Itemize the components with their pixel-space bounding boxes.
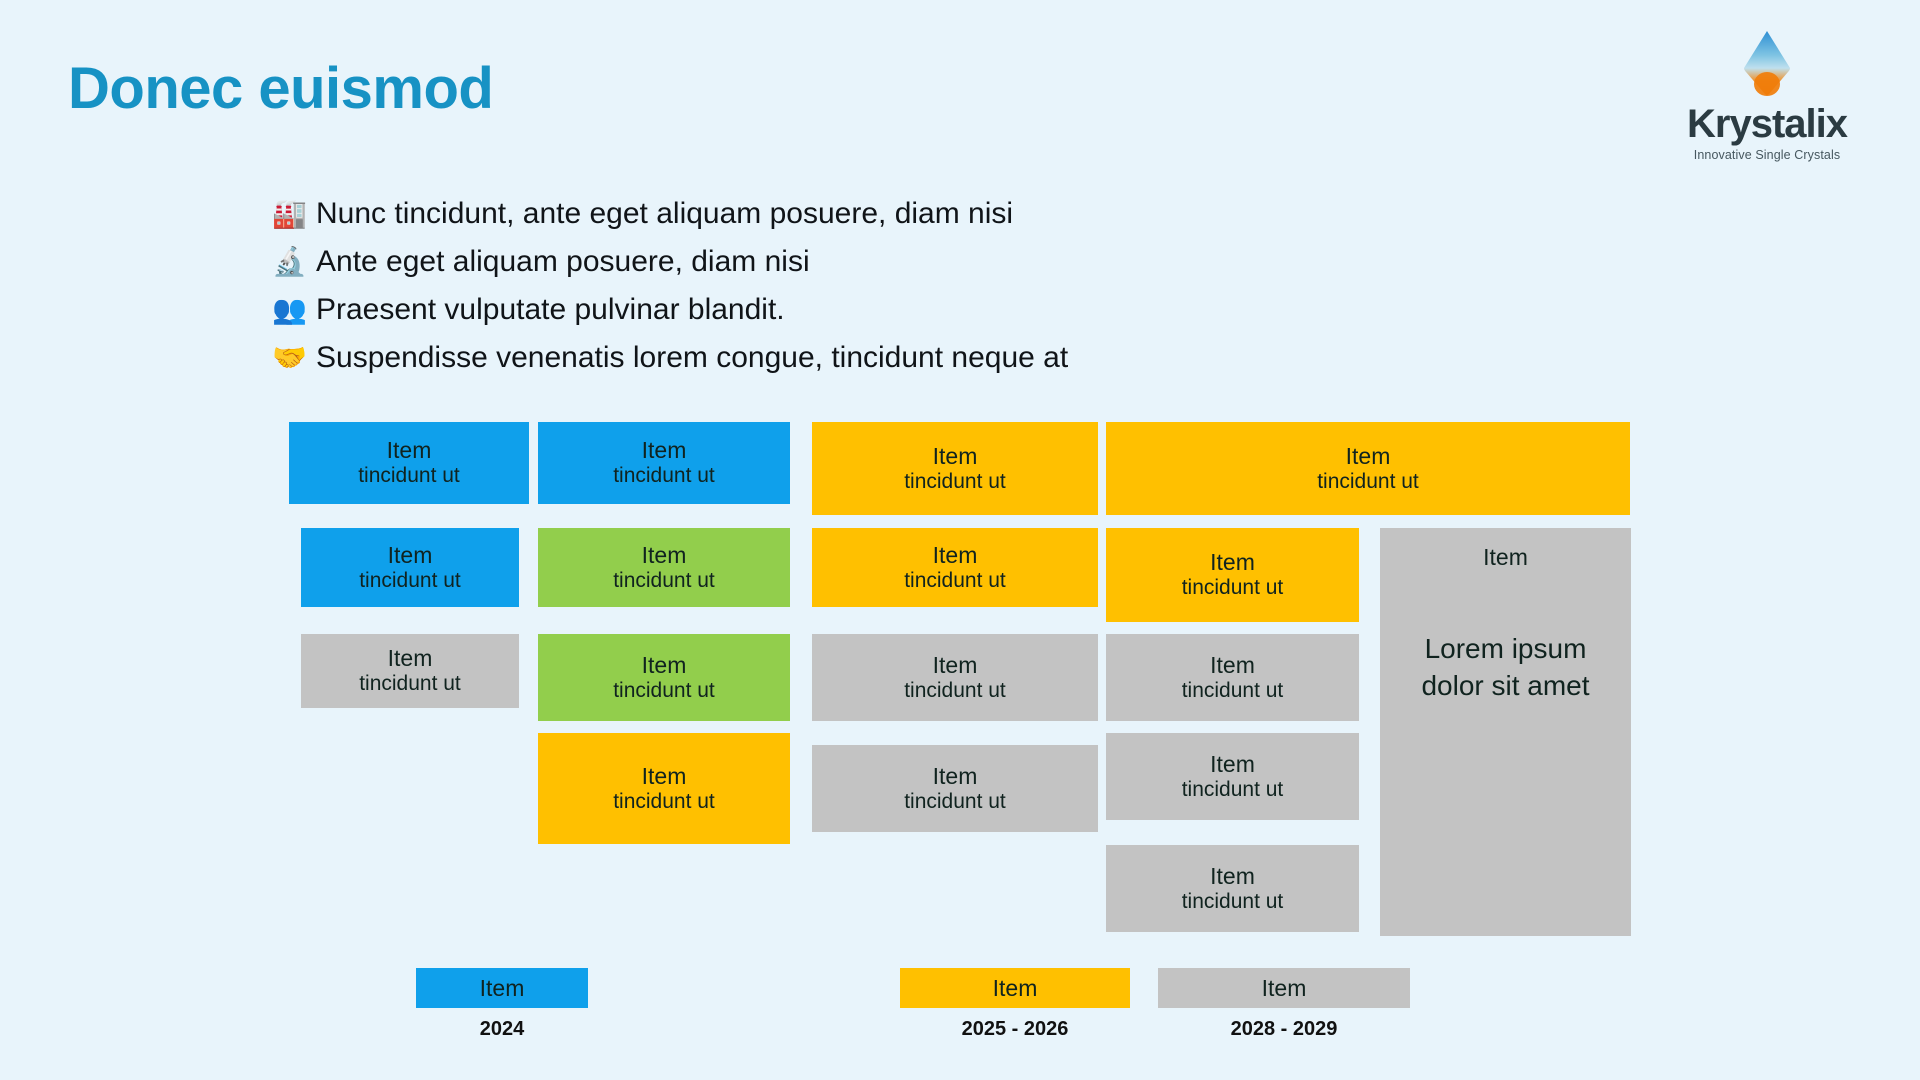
matrix-cell-r1c3[interactable]: Itemtincidunt ut (812, 422, 1098, 515)
cell-subtitle: tincidunt ut (1317, 470, 1419, 495)
list-item: 👥 Praesent vulputate pulvinar blandit. (272, 286, 1472, 334)
matrix-cell-r3c3[interactable]: Itemtincidunt ut (812, 634, 1098, 721)
matrix-cell-r2c2[interactable]: Itemtincidunt ut (538, 528, 790, 607)
bullet-text: Praesent vulputate pulvinar blandit. (316, 293, 785, 327)
cell-title: Item (1210, 751, 1255, 778)
cell-title: Item (388, 645, 433, 672)
cell-subtitle: tincidunt ut (613, 569, 715, 594)
page-title: Donec euismod (68, 55, 493, 122)
legend-period-label: 2028 - 2029 (1158, 1018, 1410, 1041)
cell-title: Item (642, 652, 687, 679)
microscope-icon: 🔬 (272, 248, 316, 276)
matrix-cell-r4c4[interactable]: Itemtincidunt ut (1106, 733, 1359, 820)
legend-2028-2029[interactable]: Item2028 - 2029 (1158, 968, 1410, 1041)
bullet-text: Nunc tincidunt, ante eget aliquam posuer… (316, 197, 1013, 231)
cell-title: Item (933, 763, 978, 790)
matrix-cell-r1c1[interactable]: Itemtincidunt ut (289, 422, 529, 504)
handshake-icon: 🤝 (272, 344, 316, 372)
brand-logo: Krystalix Innovative Single Crystals (1652, 28, 1882, 162)
cell-title: Item (642, 542, 687, 569)
cell-subtitle: tincidunt ut (1182, 778, 1284, 803)
cell-subtitle: tincidunt ut (904, 569, 1006, 594)
legend-swatch: Item (900, 968, 1130, 1008)
cell-subtitle: tincidunt ut (358, 464, 460, 489)
legend-period-label: 2024 (416, 1018, 588, 1041)
list-item: 🏭 Nunc tincidunt, ante eget aliquam posu… (272, 190, 1472, 238)
cell-title: Item (1346, 443, 1391, 470)
crystal-droplet-icon (1740, 28, 1794, 102)
legend-period-label: 2025 - 2026 (900, 1018, 1130, 1041)
factory-icon: 🏭 (272, 200, 316, 228)
cell-title: Item (1210, 863, 1255, 890)
cell-title: Item (1483, 544, 1528, 571)
cell-subtitle: tincidunt ut (613, 790, 715, 815)
matrix-cell-r3c2[interactable]: Itemtincidunt ut (538, 634, 790, 721)
list-item: 🔬 Ante eget aliquam posuere, diam nisi (272, 238, 1472, 286)
legend-2024[interactable]: Item2024 (416, 968, 588, 1041)
legend-swatch: Item (416, 968, 588, 1008)
busts-in-silhouette-icon: 👥 (272, 296, 316, 324)
cell-title: Item (642, 437, 687, 464)
matrix-cell-r2c4[interactable]: Itemtincidunt ut (1106, 528, 1359, 622)
logo-wordmark: Krystalix (1652, 104, 1882, 144)
bullet-text: Suspendisse venenatis lorem congue, tinc… (316, 341, 1068, 375)
cell-subtitle: tincidunt ut (1182, 679, 1284, 704)
cell-subtitle: tincidunt ut (1182, 890, 1284, 915)
legend-swatch: Item (1158, 968, 1410, 1008)
cell-title: Item (642, 763, 687, 790)
cell-subtitle: tincidunt ut (904, 470, 1006, 495)
cell-subtitle: tincidunt ut (904, 790, 1006, 815)
matrix-cell-r1c2[interactable]: Itemtincidunt ut (538, 422, 790, 504)
cell-subtitle: tincidunt ut (359, 569, 461, 594)
cell-title: Item (388, 542, 433, 569)
matrix-cell-r2c5[interactable]: ItemLorem ipsumdolor sit amet (1380, 528, 1631, 936)
matrix-cell-r1c4[interactable]: Itemtincidunt ut (1106, 422, 1630, 515)
matrix-cell-r4c3[interactable]: Itemtincidunt ut (812, 745, 1098, 832)
cell-subtitle: tincidunt ut (359, 672, 461, 697)
cell-title: Item (933, 652, 978, 679)
matrix-cell-r5c4[interactable]: Itemtincidunt ut (1106, 845, 1359, 932)
matrix-cell-r2c1[interactable]: Itemtincidunt ut (301, 528, 519, 607)
cell-title: Item (933, 542, 978, 569)
cell-title: Item (1210, 652, 1255, 679)
cell-subtitle: tincidunt ut (613, 464, 715, 489)
cell-subtitle: tincidunt ut (904, 679, 1006, 704)
cell-title: Item (1210, 549, 1255, 576)
cell-body: Lorem ipsumdolor sit amet (1421, 631, 1589, 704)
bullet-list: 🏭 Nunc tincidunt, ante eget aliquam posu… (272, 190, 1472, 382)
matrix-cell-r4c2[interactable]: Itemtincidunt ut (538, 733, 790, 844)
legend-2025-2026[interactable]: Item2025 - 2026 (900, 968, 1130, 1041)
cell-title: Item (387, 437, 432, 464)
cell-title: Item (933, 443, 978, 470)
matrix-cell-r3c4[interactable]: Itemtincidunt ut (1106, 634, 1359, 721)
matrix-cell-r3c1[interactable]: Itemtincidunt ut (301, 634, 519, 708)
list-item: 🤝 Suspendisse venenatis lorem congue, ti… (272, 334, 1472, 382)
bullet-text: Ante eget aliquam posuere, diam nisi (316, 245, 810, 279)
cell-subtitle: tincidunt ut (1182, 576, 1284, 601)
logo-tagline: Innovative Single Crystals (1652, 149, 1882, 162)
cell-subtitle: tincidunt ut (613, 679, 715, 704)
matrix-cell-r2c3[interactable]: Itemtincidunt ut (812, 528, 1098, 607)
